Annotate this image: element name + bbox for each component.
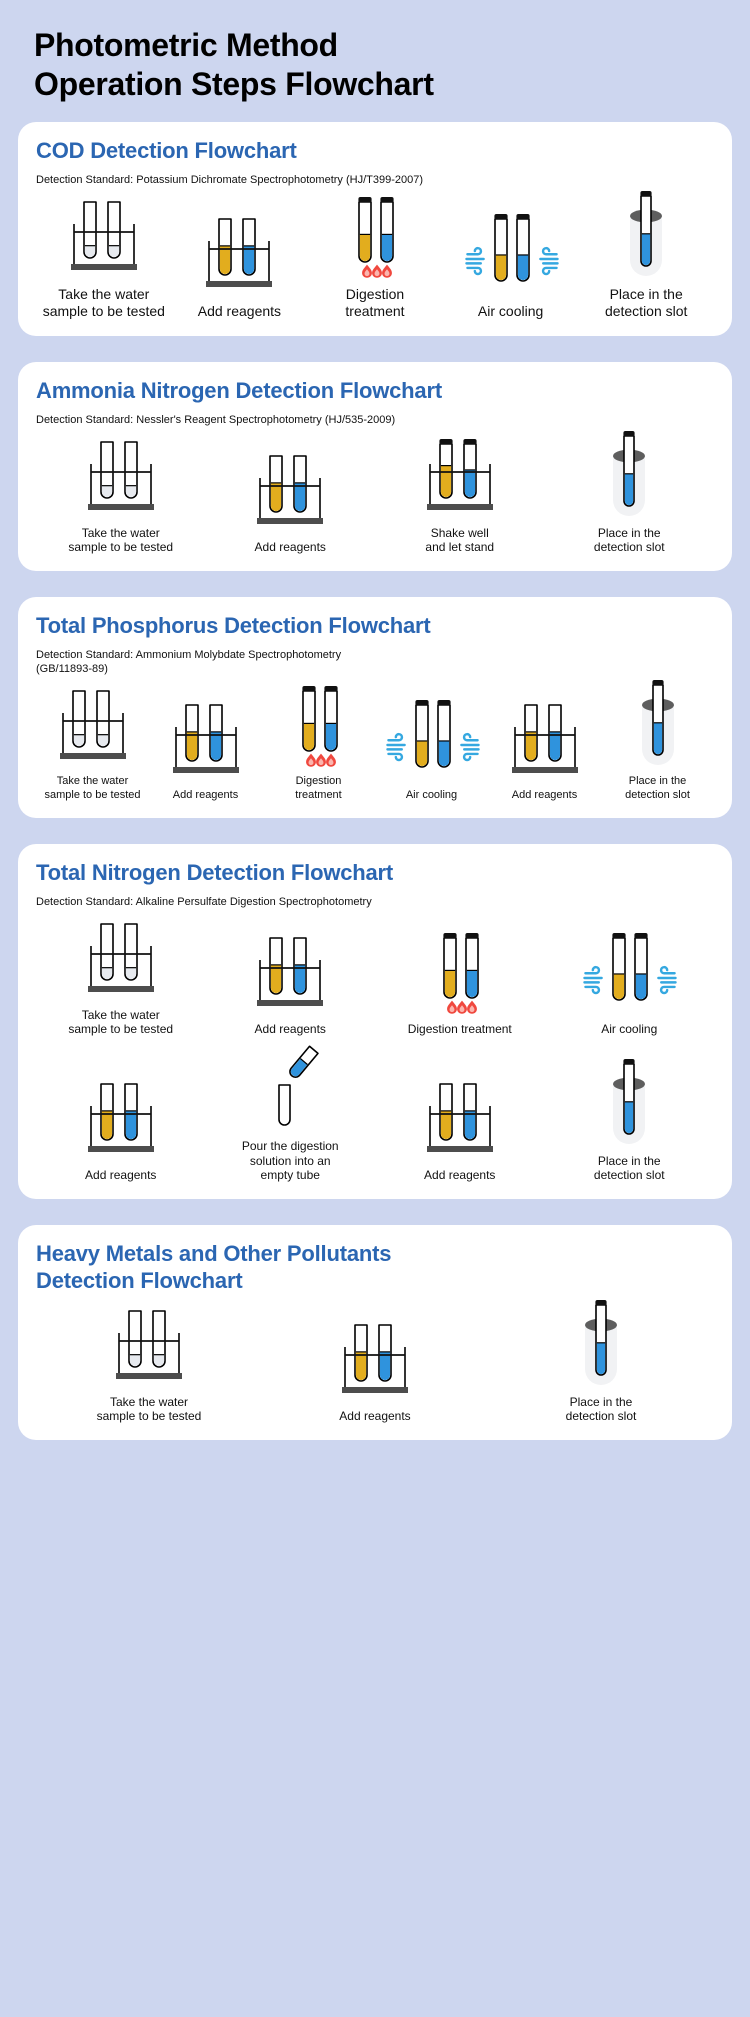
infographic-page: Photometric Method Operation Steps Flowc… (0, 0, 750, 2017)
flow-step: Add reagents (149, 697, 262, 802)
flow-step: Air cooling (443, 211, 579, 320)
step-label: Take the water sample to be tested (68, 1008, 173, 1037)
flow-step: Place in the detection slot (601, 683, 714, 802)
flow-step: Air cooling (375, 697, 488, 802)
flow-step: Add reagents (262, 1317, 488, 1424)
steps-row: Take the water sample to be testedAdd re… (36, 194, 714, 320)
page-title-line-1: Photometric Method (34, 26, 716, 65)
step-label: Add reagents (255, 540, 326, 555)
flow-step: Place in the detection slot (545, 1062, 715, 1183)
flow-step: Digestion treatment (375, 930, 545, 1037)
flow-step: Place in the detection slot (578, 194, 714, 320)
rack-clear-icon (58, 194, 150, 280)
rack-clear-icon (103, 1303, 195, 1389)
flow-step: Place in the detection slot (545, 434, 715, 555)
step-label: Air cooling (406, 789, 457, 802)
step-label: Add reagents (255, 1022, 326, 1037)
rack-filled-icon (244, 930, 336, 1016)
rack-filled-icon (329, 1317, 421, 1403)
section-card-ammonia: Ammonia Nitrogen Detection FlowchartDete… (18, 362, 732, 571)
steps-row: Take the water sample to be testedAdd re… (36, 434, 714, 555)
step-label: Digestion treatment (295, 775, 341, 802)
rack-clear-icon (47, 683, 139, 769)
step-label: Pour the digestion solution into an empt… (242, 1139, 339, 1183)
flow-step: Take the water sample to be tested (36, 434, 206, 555)
step-label: Digestion treatment (345, 286, 404, 320)
tubes-capped-wind-icon (574, 930, 684, 1016)
rack-clear-icon (75, 434, 167, 520)
step-label: Place in the detection slot (566, 1395, 637, 1424)
tubes-capped-flame-icon (329, 194, 421, 280)
step-label: Air cooling (601, 1022, 657, 1037)
flow-step: Digestion treatment (262, 683, 375, 802)
tube-in-slot-icon (612, 683, 704, 769)
rack-clear-icon (75, 916, 167, 1002)
rack-filled-icon (414, 1076, 506, 1162)
rack-filled-icon (193, 211, 285, 297)
section-card-phosphorus: Total Phosphorus Detection FlowchartDete… (18, 597, 732, 818)
step-label: Take the water sample to be tested (44, 775, 140, 802)
section-heading-ammonia: Ammonia Nitrogen Detection Flowchart (36, 378, 714, 405)
flow-step: Pour the digestion solution into an empt… (206, 1047, 376, 1183)
tube-in-slot-icon (555, 1303, 647, 1389)
tubes-capped-wind-icon (377, 697, 487, 783)
tube-in-slot-icon (600, 194, 692, 280)
section-heading-cod: COD Detection Flowchart (36, 138, 714, 165)
section-standard-ammonia: Detection Standard: Nessler's Reagent Sp… (36, 413, 714, 428)
steps-row: Take the water sample to be testedAdd re… (36, 1303, 714, 1424)
step-label: Place in the detection slot (594, 526, 665, 555)
step-label: Take the water sample to be tested (68, 526, 173, 555)
steps-row: Add reagentsPour the digestion solution … (36, 1047, 714, 1183)
step-label: Shake well and let stand (425, 526, 494, 555)
section-heading-phosphorus: Total Phosphorus Detection Flowchart (36, 613, 714, 640)
flow-step: Add reagents (206, 930, 376, 1037)
steps-row: Take the water sample to be testedAdd re… (36, 916, 714, 1037)
sections-container: COD Detection FlowchartDetection Standar… (18, 122, 732, 1440)
rack-capped-filled-icon (414, 434, 506, 520)
tubes-capped-flame-icon (414, 930, 506, 1016)
section-card-heavy-metals: Heavy Metals and Other Pollutants Detect… (18, 1225, 732, 1440)
flow-step: Add reagents (206, 448, 376, 555)
rack-filled-icon (499, 697, 591, 783)
section-card-cod: COD Detection FlowchartDetection Standar… (18, 122, 732, 336)
step-label: Add reagents (85, 1168, 156, 1183)
step-label: Take the water sample to be tested (97, 1395, 202, 1424)
step-label: Air cooling (478, 303, 543, 320)
step-label: Place in the detection slot (605, 286, 688, 320)
page-title: Photometric Method Operation Steps Flowc… (18, 0, 732, 122)
rack-filled-icon (160, 697, 252, 783)
flow-step: Place in the detection slot (488, 1303, 714, 1424)
flow-step: Air cooling (545, 930, 715, 1037)
flow-step: Take the water sample to be tested (36, 1303, 262, 1424)
step-label: Place in the detection slot (594, 1154, 665, 1183)
rack-filled-icon (75, 1076, 167, 1162)
pour-tube-icon (244, 1047, 336, 1133)
step-label: Add reagents (339, 1409, 410, 1424)
steps-row: Take the water sample to be testedAdd re… (36, 683, 714, 802)
tubes-capped-flame-icon (273, 683, 365, 769)
section-standard-nitrogen: Detection Standard: Alkaline Persulfate … (36, 895, 714, 910)
step-label: Add reagents (512, 789, 577, 802)
flow-step: Take the water sample to be tested (36, 194, 172, 320)
section-standard-cod: Detection Standard: Potassium Dichromate… (36, 173, 714, 188)
step-label: Digestion treatment (408, 1022, 512, 1037)
flow-step: Take the water sample to be tested (36, 683, 149, 802)
section-card-nitrogen: Total Nitrogen Detection FlowchartDetect… (18, 844, 732, 1199)
step-label: Place in the detection slot (625, 775, 690, 802)
step-label: Add reagents (173, 789, 238, 802)
rack-filled-icon (244, 448, 336, 534)
section-heading-nitrogen: Total Nitrogen Detection Flowchart (36, 860, 714, 887)
tube-in-slot-icon (583, 1062, 675, 1148)
flow-step: Shake well and let stand (375, 434, 545, 555)
step-label: Take the water sample to be tested (43, 286, 165, 320)
step-label: Add reagents (198, 303, 281, 320)
flow-step: Add reagents (375, 1076, 545, 1183)
section-heading-heavy-metals: Heavy Metals and Other Pollutants Detect… (36, 1241, 714, 1295)
flow-step: Add reagents (36, 1076, 206, 1183)
flow-step: Add reagents (172, 211, 308, 320)
page-title-line-2: Operation Steps Flowchart (34, 65, 716, 104)
tube-in-slot-icon (583, 434, 675, 520)
section-standard-phosphorus: Detection Standard: Ammonium Molybdate S… (36, 648, 714, 678)
flow-step: Take the water sample to be tested (36, 916, 206, 1037)
flow-step: Digestion treatment (307, 194, 443, 320)
tubes-capped-wind-icon (456, 211, 566, 297)
flow-step: Add reagents (488, 697, 601, 802)
step-label: Add reagents (424, 1168, 495, 1183)
